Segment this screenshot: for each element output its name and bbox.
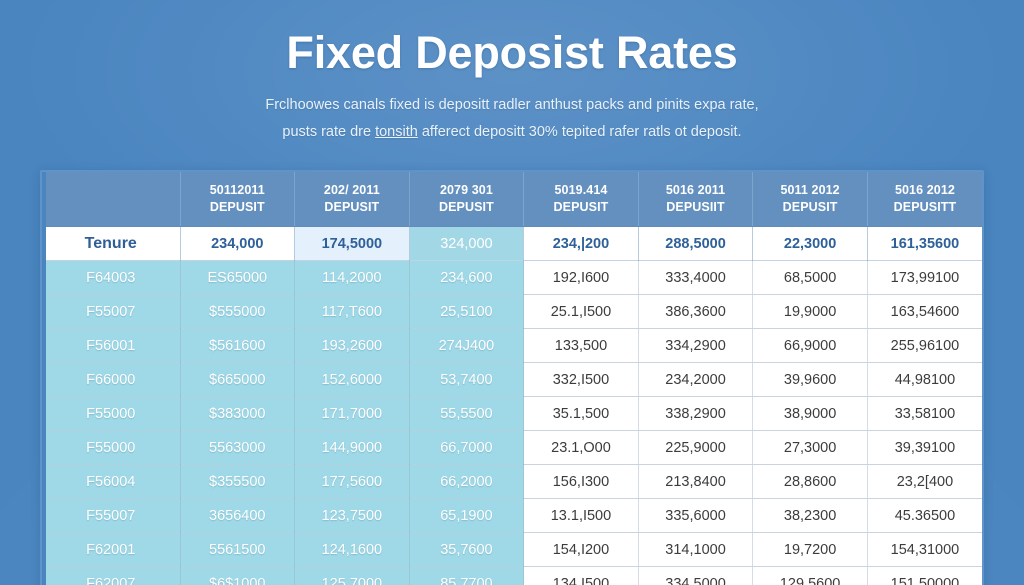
- row-cell-1: 5561500: [180, 533, 295, 567]
- row-cell-3: 274J400: [409, 329, 524, 363]
- row-cell-6: 19,7200: [753, 533, 868, 567]
- column-header-label: DEPUSIIT: [645, 199, 747, 216]
- row-tenure-cell: F55000: [42, 397, 180, 431]
- column-header-2: 202/ 2011DEPUSIT: [295, 172, 410, 227]
- row-cell-7: 44,98100: [867, 363, 982, 397]
- column-header-label: DEPUSITT: [874, 199, 976, 216]
- row-cell-4: 134,I500: [524, 567, 639, 585]
- page-title: Fixed Deposist Rates: [36, 28, 988, 78]
- row-cell-7: 151,50000: [867, 567, 982, 585]
- row-cell-3: 55,5500: [409, 397, 524, 431]
- fixed-deposit-rates-table: 50112011DEPUSIT202/ 2011DEPUSIT2079 301D…: [42, 172, 982, 585]
- row-cell-2: 177,5600: [295, 465, 410, 499]
- table-row: F66000$665000152,600053,7400332,I500234,…: [42, 363, 982, 397]
- row-cell-1: $383000: [180, 397, 295, 431]
- table-header-row: 50112011DEPUSIT202/ 2011DEPUSIT2079 301D…: [42, 172, 982, 227]
- row-cell-4: 25.1,I500: [524, 295, 639, 329]
- row-cell-7: 39,39100: [867, 431, 982, 465]
- tenure-row-cell-2: 174,5000: [295, 227, 410, 261]
- page-root: Fixed Deposist Rates Frclhoowes canals f…: [0, 0, 1024, 585]
- column-header-code: 2079 301: [416, 182, 518, 199]
- row-cell-4: 23.1,O00: [524, 431, 639, 465]
- row-cell-7: 173,99100: [867, 261, 982, 295]
- row-cell-1: $6$1000: [180, 567, 295, 585]
- column-header-1: 50112011DEPUSIT: [180, 172, 295, 227]
- column-header-label: DEPUSIT: [416, 199, 518, 216]
- row-cell-2: 124,1600: [295, 533, 410, 567]
- row-cell-2: 171,7000: [295, 397, 410, 431]
- row-cell-7: 45.36500: [867, 499, 982, 533]
- row-cell-5: 335,6000: [638, 499, 753, 533]
- row-cell-6: 38,9000: [753, 397, 868, 431]
- rates-table-container: 50112011DEPUSIT202/ 2011DEPUSIT2079 301D…: [40, 170, 984, 585]
- row-cell-3: 65,1900: [409, 499, 524, 533]
- row-cell-5: 314,1000: [638, 533, 753, 567]
- row-cell-5: 234,2000: [638, 363, 753, 397]
- row-cell-7: 33,58100: [867, 397, 982, 431]
- row-cell-2: 114,2000: [295, 261, 410, 295]
- row-cell-4: 13.1,I500: [524, 499, 639, 533]
- row-cell-6: 19,9000: [753, 295, 868, 329]
- tenure-label-cell: Tenure: [42, 227, 180, 261]
- row-tenure-cell: F62007: [42, 567, 180, 585]
- row-cell-3: 234,600: [409, 261, 524, 295]
- subtitle-underlined-word: tonsith: [375, 124, 418, 140]
- row-cell-1: 3656400: [180, 499, 295, 533]
- row-cell-7: 154,31000: [867, 533, 982, 567]
- row-cell-2: 152,6000: [295, 363, 410, 397]
- row-cell-2: 144,9000: [295, 431, 410, 465]
- row-cell-7: 255,96100: [867, 329, 982, 363]
- column-header-label: DEPUSIT: [530, 199, 632, 216]
- column-header-7: 5016 2012DEPUSITT: [867, 172, 982, 227]
- row-cell-7: 163,54600: [867, 295, 982, 329]
- row-cell-6: 27,3000: [753, 431, 868, 465]
- column-header-code: 50112011: [187, 182, 289, 199]
- row-cell-5: 386,3600: [638, 295, 753, 329]
- row-cell-3: 35,7600: [409, 533, 524, 567]
- column-header-3: 2079 301DEPUSIT: [409, 172, 524, 227]
- page-header: Fixed Deposist Rates Frclhoowes canals f…: [36, 22, 988, 146]
- row-cell-4: 35.1,500: [524, 397, 639, 431]
- tenure-header-row: Tenure234,000174,5000324,000234,|200288,…: [42, 227, 982, 261]
- table-row: F56001$561600193,2600274J400133,500334,2…: [42, 329, 982, 363]
- table-row: F56004$355500177,560066,2000156,I300213,…: [42, 465, 982, 499]
- row-cell-5: 225,9000: [638, 431, 753, 465]
- row-tenure-cell: F55000: [42, 431, 180, 465]
- table-row: F550073656400123,750065,190013.1,I500335…: [42, 499, 982, 533]
- row-cell-6: 28,8600: [753, 465, 868, 499]
- row-cell-6: 66,9000: [753, 329, 868, 363]
- table-row: F55007$555000117,T60025,510025.1,I500386…: [42, 295, 982, 329]
- subtitle-line-2: pusts rate dre tonsith afferect depositt…: [36, 119, 988, 146]
- row-cell-4: 332,I500: [524, 363, 639, 397]
- table-row: F620015561500124,160035,7600154,I200314,…: [42, 533, 982, 567]
- row-tenure-cell: F64003: [42, 261, 180, 295]
- row-tenure-cell: F55007: [42, 295, 180, 329]
- row-cell-3: 66,7000: [409, 431, 524, 465]
- column-header-label: DEPUSIT: [759, 199, 861, 216]
- subtitle-line-1: Frclhoowes canals fixed is depositt radl…: [36, 92, 988, 119]
- column-header-code: 5016 2011: [645, 182, 747, 199]
- table-row: F64003ES65000114,2000234,600192,I600333,…: [42, 261, 982, 295]
- row-cell-4: 133,500: [524, 329, 639, 363]
- column-header-code: 5019.414: [530, 182, 632, 199]
- table-head: 50112011DEPUSIT202/ 2011DEPUSIT2079 301D…: [42, 172, 982, 227]
- row-cell-5: 333,4000: [638, 261, 753, 295]
- tenure-row-cell-3: 324,000: [409, 227, 524, 261]
- row-cell-2: 193,2600: [295, 329, 410, 363]
- column-header-code: 5016 2012: [874, 182, 976, 199]
- column-header-code: 202/ 2011: [301, 182, 403, 199]
- row-cell-3: 66,2000: [409, 465, 524, 499]
- row-tenure-cell: F66000: [42, 363, 180, 397]
- row-cell-1: $665000: [180, 363, 295, 397]
- row-cell-3: 85,7700: [409, 567, 524, 585]
- column-header-code: 5011 2012: [759, 182, 861, 199]
- table-header-corner: [42, 172, 180, 227]
- row-cell-6: 38,2300: [753, 499, 868, 533]
- row-tenure-cell: F55007: [42, 499, 180, 533]
- row-cell-5: 338,2900: [638, 397, 753, 431]
- page-subtitle: Frclhoowes canals fixed is depositt radl…: [36, 92, 988, 146]
- row-cell-1: ES65000: [180, 261, 295, 295]
- row-cell-3: 25,5100: [409, 295, 524, 329]
- row-cell-6: 129,5600: [753, 567, 868, 585]
- row-cell-2: 123,7500: [295, 499, 410, 533]
- row-cell-1: 5563000: [180, 431, 295, 465]
- row-cell-5: 334,5000: [638, 567, 753, 585]
- row-cell-5: 213,8400: [638, 465, 753, 499]
- row-cell-2: 117,T600: [295, 295, 410, 329]
- table-body: Tenure234,000174,5000324,000234,|200288,…: [42, 227, 982, 585]
- tenure-row-cell-1: 234,000: [180, 227, 295, 261]
- tenure-row-cell-7: 161,35600: [867, 227, 982, 261]
- row-cell-6: 39,9600: [753, 363, 868, 397]
- row-tenure-cell: F56004: [42, 465, 180, 499]
- row-cell-1: $355500: [180, 465, 295, 499]
- row-cell-4: 192,I600: [524, 261, 639, 295]
- tenure-row-cell-4: 234,|200: [524, 227, 639, 261]
- row-cell-2: 125,7000: [295, 567, 410, 585]
- column-header-5: 5016 2011DEPUSIIT: [638, 172, 753, 227]
- row-cell-3: 53,7400: [409, 363, 524, 397]
- subtitle-line-2-part-b: afferect depositt 30% tepited rafer ratl…: [418, 124, 742, 140]
- row-cell-1: $561600: [180, 329, 295, 363]
- row-cell-7: 23,2[400: [867, 465, 982, 499]
- row-cell-4: 156,I300: [524, 465, 639, 499]
- table-row: F62007$6$1000125,700085,7700134,I500334,…: [42, 567, 982, 585]
- column-header-label: DEPUSIT: [301, 199, 403, 216]
- row-tenure-cell: F56001: [42, 329, 180, 363]
- table-row: F55000$383000171,700055,550035.1,500338,…: [42, 397, 982, 431]
- column-header-4: 5019.414DEPUSIT: [524, 172, 639, 227]
- row-cell-1: $555000: [180, 295, 295, 329]
- row-tenure-cell: F62001: [42, 533, 180, 567]
- column-header-label: DEPUSIT: [187, 199, 289, 216]
- tenure-row-cell-6: 22,3000: [753, 227, 868, 261]
- column-header-6: 5011 2012DEPUSIT: [753, 172, 868, 227]
- row-cell-5: 334,2900: [638, 329, 753, 363]
- subtitle-line-2-part-a: pusts rate dre: [282, 124, 375, 140]
- tenure-row-cell-5: 288,5000: [638, 227, 753, 261]
- row-cell-6: 68,5000: [753, 261, 868, 295]
- row-cell-4: 154,I200: [524, 533, 639, 567]
- table-row: F550005563000144,900066,700023.1,O00225,…: [42, 431, 982, 465]
